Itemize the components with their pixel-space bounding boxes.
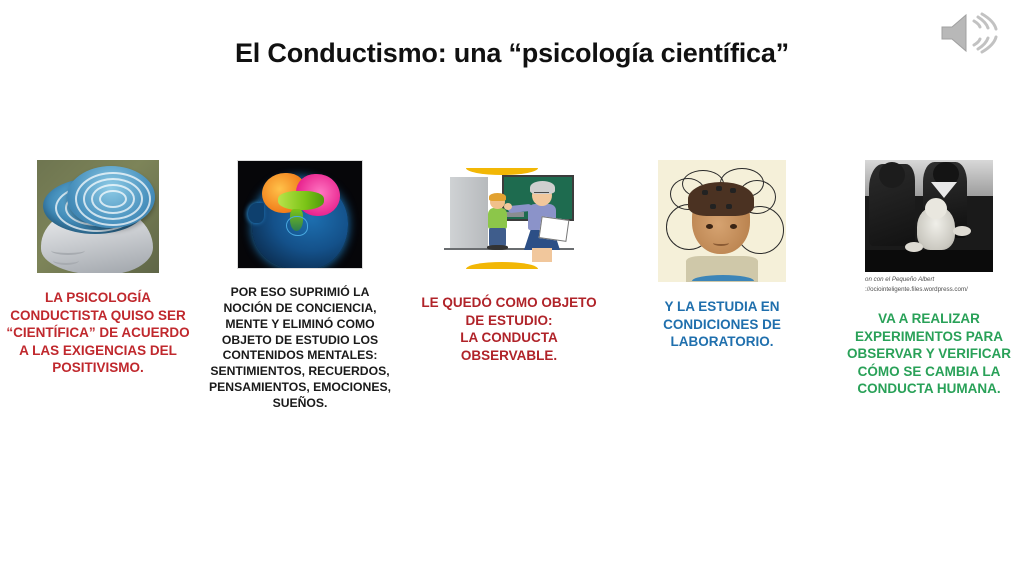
column-3-text: LE QUEDÓ COMO OBJETO DE ESTUDIO: LA COND… [416,294,602,364]
neon-head-colored-brain-image [237,160,363,269]
column-1-text: LA PSICOLOGÍA CONDUCTISTA QUISO SER “CIE… [6,289,190,377]
little-albert-experiment-photo [865,160,993,272]
caption-line-1: on con el Pequeño Albert [865,275,993,285]
content-column-4: Y LA ESTUDIA EN CONDICIONES DE LABORATOR… [630,160,814,351]
column-5-text: VA A REALIZAR EXPERIMENTOS PARA OBSERVAR… [834,310,1024,398]
column-3-text-line-2: LA CONDUCTA OBSERVABLE. [416,329,602,364]
column-4-text: Y LA ESTUDIA EN CONDICIONES DE LABORATOR… [630,298,814,351]
child-with-eeg-electrodes-image [658,160,786,282]
photo-credit-caption: on con el Pequeño Albert ://ociointelige… [865,275,993,294]
content-column-5: on con el Pequeño Albert ://ociointelige… [834,160,1024,398]
classroom-teacher-punishing-boy-image [444,160,574,278]
column-3-text-line-1: LE QUEDÓ COMO OBJETO DE ESTUDIO: [416,294,602,329]
content-column-1: LA PSICOLOGÍA CONDUCTISTA QUISO SER “CIE… [6,160,190,377]
column-2-text: POR ESO SUPRIMIÓ LA NOCIÓN DE CONCIENCIA… [208,285,392,412]
content-column-3: LE QUEDÓ COMO OBJETO DE ESTUDIO: LA COND… [416,160,602,364]
silver-head-with-blue-maze-image [37,160,159,273]
caption-line-2: ://ociointeligente.files.wordpress.com/ [865,285,993,295]
content-column-2: POR ESO SUPRIMIÓ LA NOCIÓN DE CONCIENCIA… [208,160,392,412]
page-title: El Conductismo: una “psicología científi… [0,38,1024,69]
